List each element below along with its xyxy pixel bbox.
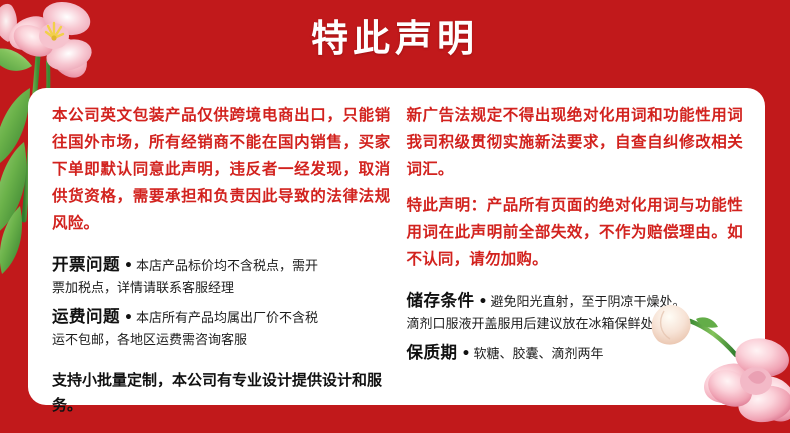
- left-column: 本公司英文包装产品仅供跨境电商出口，只能销往国外市场，所有经销商不能在国内销售，…: [36, 102, 397, 395]
- declaration-banner: 特此声明 本公司英文包装产品仅供跨境电商出口，只能销往国外市场，所有经销商不能在…: [0, 0, 790, 433]
- shelf-life-head: 保质期: [407, 343, 458, 362]
- shelf-life-block: 保质期•软糖、胶囊、滴剂两年: [407, 342, 744, 366]
- page-title: 特此声明: [0, 16, 790, 62]
- storage-condition-head: 储存条件: [407, 291, 475, 310]
- shipping-question-head: 运费问题: [52, 307, 120, 326]
- storage-condition-block: 储存条件•避免阳光直射，至于阴凉干燥处。 滴剂口服液开盖服用后建议放在冰箱保鲜处…: [407, 290, 744, 336]
- invoice-question-head: 开票问题: [52, 255, 120, 274]
- shipping-question-line: 运费问题•本店所有产品均属出厂价不含税: [52, 306, 391, 330]
- shipping-question-text-2: 运不包邮，各地区运费需咨询客服: [52, 330, 391, 352]
- shipping-question-text-1: 本店所有产品均属出厂价不含税: [136, 311, 318, 326]
- two-column-layout: 本公司英文包装产品仅供跨境电商出口，只能销往国外市场，所有经销商不能在国内销售，…: [28, 88, 765, 405]
- storage-condition-text-1: 避免阳光直射，至于阴凉干燥处。: [490, 295, 685, 310]
- shelf-life-text-1: 软糖、胶囊、滴剂两年: [473, 347, 603, 362]
- invoice-question-text-2: 票加税点，详情请联系客服经理: [52, 278, 391, 300]
- bullet-dot-icon: •: [475, 294, 491, 310]
- content-panel: 本公司英文包装产品仅供跨境电商出口，只能销往国外市场，所有经销商不能在国内销售，…: [28, 88, 765, 405]
- shipping-question-block: 运费问题•本店所有产品均属出厂价不含税 运不包邮，各地区运费需咨询客服: [52, 306, 391, 352]
- custom-order-note: 支持小批量定制，本公司有专业设计提供设计和服务。: [52, 368, 391, 418]
- advertising-law-paragraph: 新广告法规定不得出现绝对化用词和功能性用词我司积级贯彻实施新法要求，自查自纠修改…: [407, 102, 744, 183]
- bullet-dot-icon: •: [458, 346, 474, 362]
- invoice-question-line: 开票问题•本店产品标价均不含税点，需开: [52, 254, 391, 278]
- storage-condition-text-2: 滴剂口服液开盖服用后建议放在冰箱保鲜处储存: [407, 314, 744, 336]
- special-declaration-paragraph: 特此声明：产品所有页面的绝对化用词与功能性用词在此声明前全部失效，不作为赔偿理由…: [407, 192, 744, 273]
- bullet-dot-icon: •: [120, 310, 136, 326]
- storage-condition-line: 储存条件•避免阳光直射，至于阴凉干燥处。: [407, 290, 744, 314]
- shelf-life-line: 保质期•软糖、胶囊、滴剂两年: [407, 342, 744, 366]
- right-column: 新广告法规定不得出现绝对化用词和功能性用词我司积级贯彻实施新法要求，自查自纠修改…: [397, 102, 758, 395]
- export-statement-paragraph: 本公司英文包装产品仅供跨境电商出口，只能销往国外市场，所有经销商不能在国内销售，…: [52, 102, 391, 237]
- invoice-question-block: 开票问题•本店产品标价均不含税点，需开 票加税点，详情请联系客服经理: [52, 254, 391, 300]
- invoice-question-text-1: 本店产品标价均不含税点，需开: [136, 259, 318, 274]
- bullet-dot-icon: •: [120, 258, 136, 274]
